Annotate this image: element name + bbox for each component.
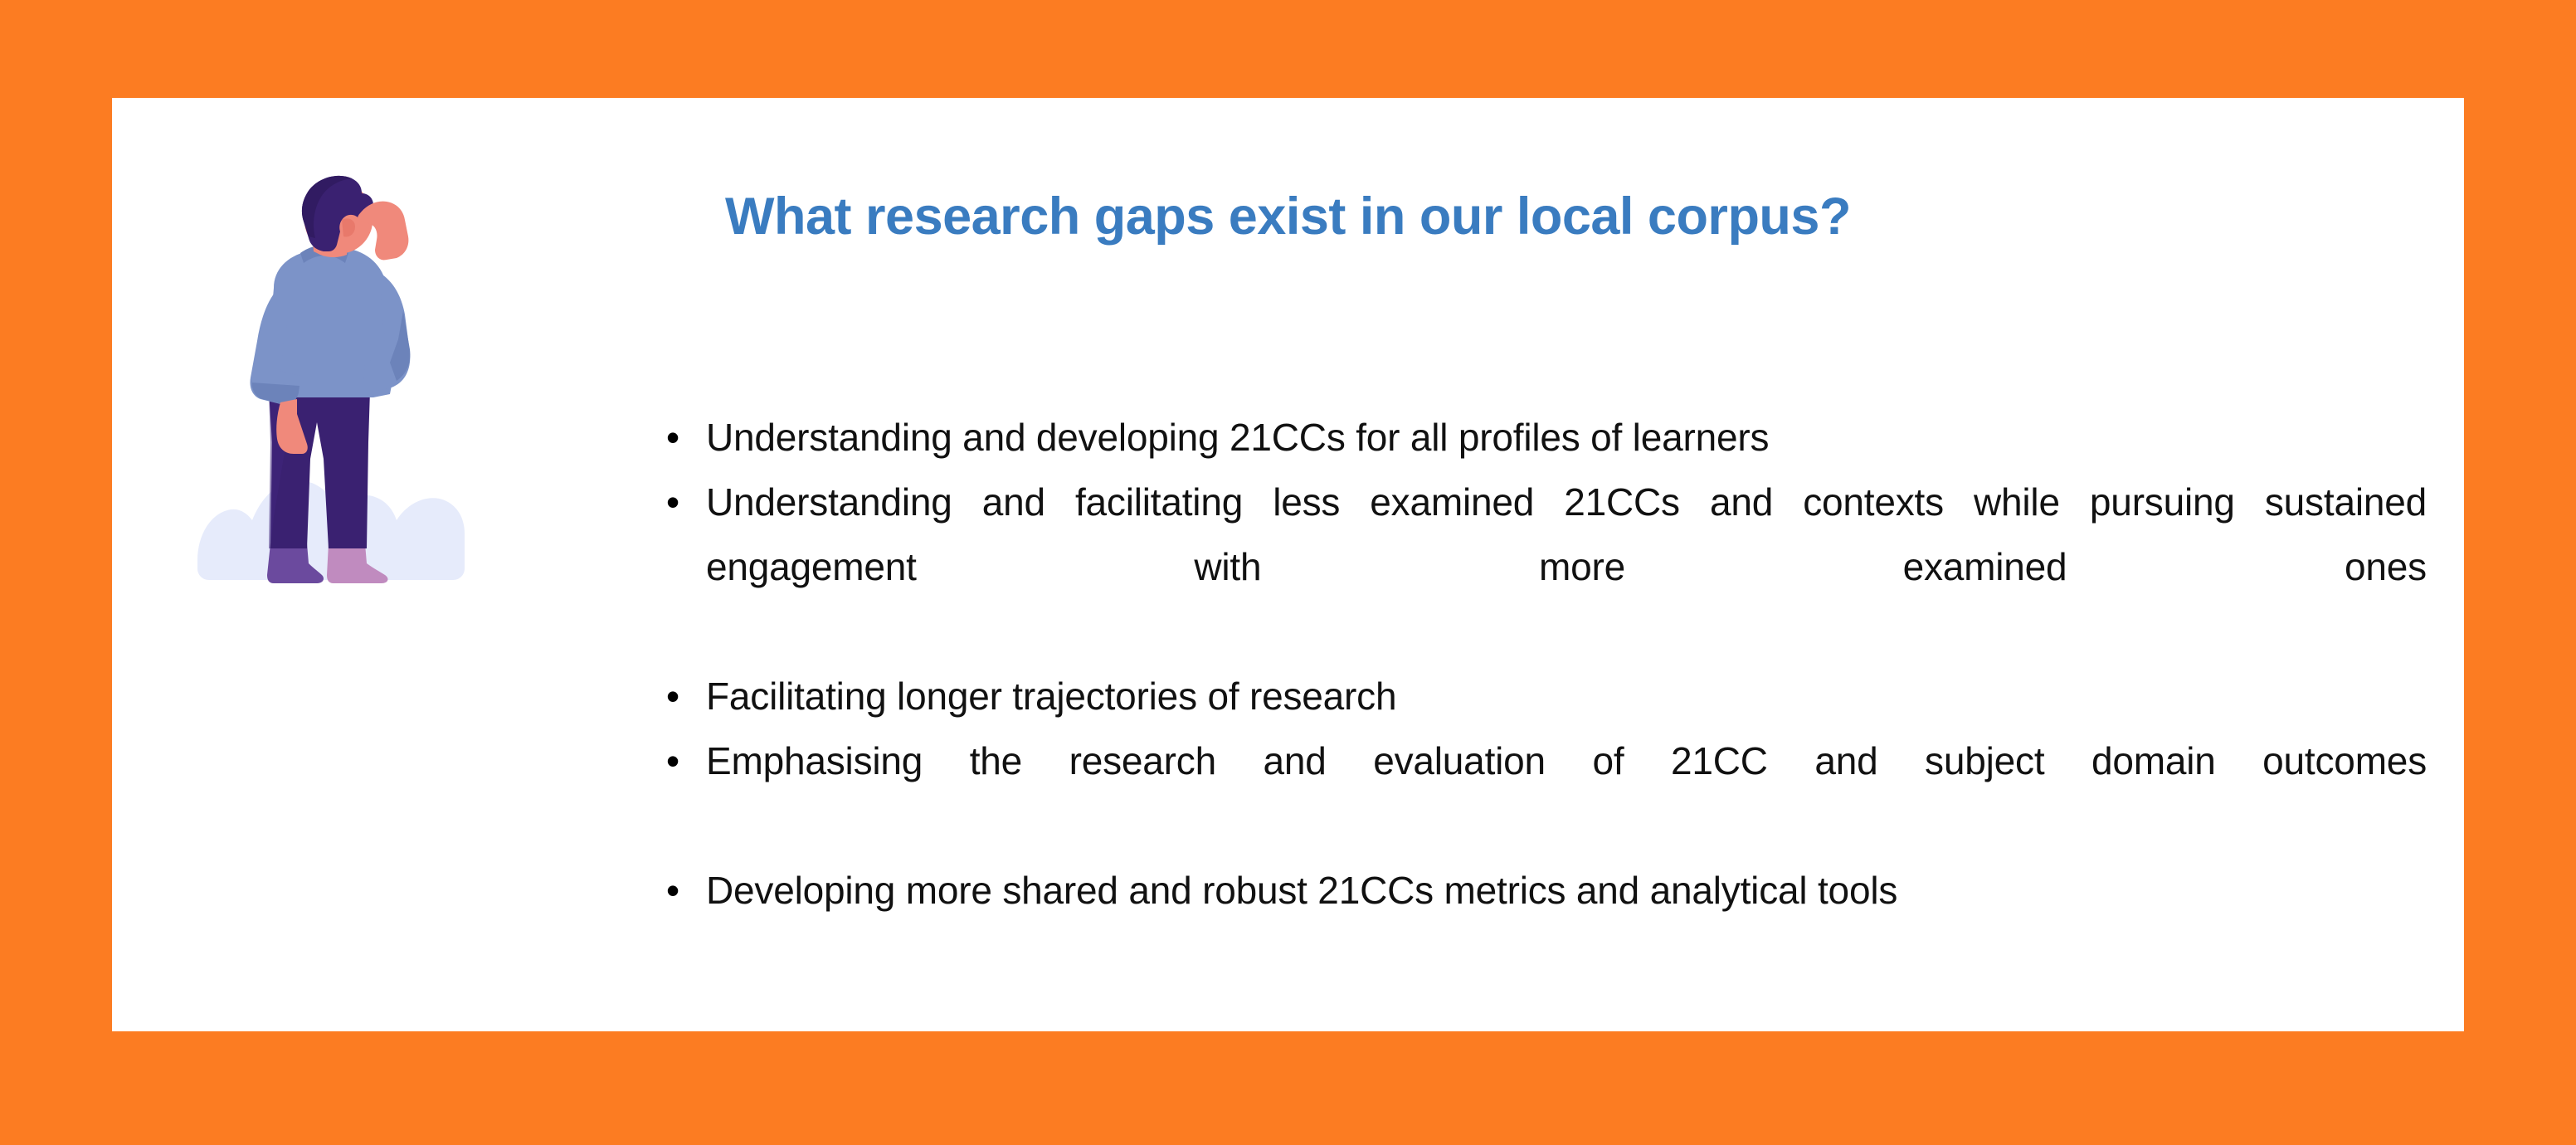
bullet-point-icon: • (660, 728, 706, 793)
list-item: • Understanding and developing 21CCs for… (660, 405, 2427, 470)
bullet-point-icon: • (660, 405, 706, 470)
slide-root: What research gaps exist in our local co… (0, 0, 2576, 1145)
bullet-text: Emphasising the research and evaluation … (706, 728, 2427, 858)
bullet-text: Understanding and developing 21CCs for a… (706, 405, 2427, 470)
bullet-text: Understanding and facilitating less exam… (706, 470, 2427, 664)
list-item: • Facilitating longer trajectories of re… (660, 664, 2427, 728)
person-looking-into-distance-illustration (191, 168, 465, 583)
bullet-text: Developing more shared and robust 21CCs … (706, 858, 2427, 923)
list-item: • Developing more shared and robust 21CC… (660, 858, 2427, 923)
list-item: • Understanding and facilitating less ex… (660, 470, 2427, 664)
page-title: What research gaps exist in our local co… (112, 189, 2464, 244)
shirt-shape (251, 245, 411, 404)
bullet-point-icon: • (660, 470, 706, 534)
bullet-point-icon: • (660, 664, 706, 728)
bullet-point-icon: • (660, 858, 706, 923)
bullet-list: • Understanding and developing 21CCs for… (660, 405, 2427, 923)
bullet-text: Facilitating longer trajectories of rese… (706, 664, 2427, 728)
list-item: • Emphasising the research and evaluatio… (660, 728, 2427, 858)
content-panel: What research gaps exist in our local co… (112, 98, 2464, 1031)
